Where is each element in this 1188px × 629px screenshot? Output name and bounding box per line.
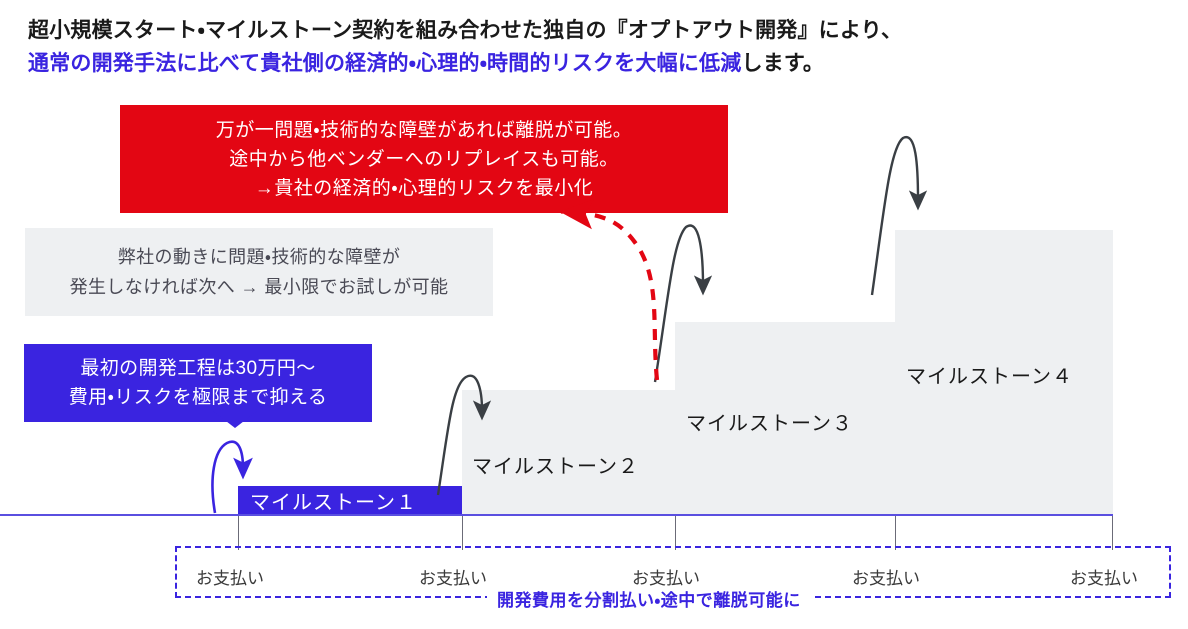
step-label-milestone-3: マイルストーン３ [686, 407, 853, 436]
payment-label-4-text: お支払い [852, 569, 920, 588]
callout-red-tail [538, 198, 586, 214]
timeline-tick-5 [1112, 516, 1113, 550]
step-label-milestone-1-text: マイルストーン１ [250, 486, 417, 515]
step-label-milestone-4: マイルストーン４ [906, 360, 1073, 389]
callout-red-line-3: →貴社の経済的・心理的リスクを最小化 [120, 174, 728, 203]
step-label-milestone-4-text: マイルストーン４ [906, 366, 1073, 388]
callout-gray-line-1: 弊社の動きに問題・技術的な障壁が [25, 242, 493, 272]
payment-caption: 開発費用を分割払い・途中で離脱可能に [487, 586, 811, 611]
step-label-milestone-1: マイルストーン１ [238, 486, 462, 515]
step-label-milestone-2: マイルストーン２ [472, 450, 639, 479]
payment-label-5: お支払い [1070, 564, 1138, 589]
callout-gray-line-2: 発生しなければ次へ → 最小限でお試しが可能 [25, 272, 493, 302]
timeline-tick-1 [238, 516, 239, 550]
page-title: 超小規模スタート・マイルストーン契約を組み合わせた独自の『オプトアウト開発』によ… [28, 14, 1148, 80]
payment-label-2-text: お支払い [419, 569, 487, 588]
timeline-tick-3 [675, 516, 676, 550]
callout-red-line-1: 万が一問題・技術的な障壁があれば離脱が可能。 [120, 116, 728, 145]
slide-canvas: 超小規模スタート・マイルストーン契約を組み合わせた独自の『オプトアウト開発』によ… [0, 0, 1188, 629]
step-label-milestone-2-text: マイルストーン２ [472, 456, 639, 478]
payment-label-2: お支払い [419, 564, 487, 589]
callout-blue-line-1: 最初の開発工程は30万円〜 [24, 354, 372, 383]
timeline-tick-4 [895, 516, 896, 550]
callout-red-line-2: 途中から他ベンダーへのリプレイスも可能。 [120, 145, 728, 174]
timeline-tick-2 [462, 516, 463, 550]
heading-line-1: 超小規模スタート・マイルストーン契約を組み合わせた独自の『オプトアウト開発』によ… [28, 14, 1148, 47]
step-label-milestone-3-text: マイルストーン３ [686, 413, 853, 435]
heading-line-2: 通常の開発手法に比べて貴社側の経済的・心理的・時間的リスクを大幅に低減します。 [28, 47, 1148, 80]
payment-label-1: お支払い [196, 564, 264, 589]
callout-red: 万が一問題・技術的な障壁があれば離脱が可能。 途中から他ベンダーへのリプレイスも… [120, 105, 728, 213]
arrow-opt-out [578, 213, 657, 380]
heading-line-2-highlight: 通常の開発手法に比べて貴社側の経済的・心理的・時間的リスクを大幅に低減 [28, 52, 741, 75]
payment-label-4: お支払い [852, 564, 920, 589]
timeline-baseline [0, 514, 1113, 516]
callout-gray: 弊社の動きに問題・技術的な障壁が 発生しなければ次へ → 最小限でお試しが可能 [25, 228, 493, 316]
heading-line-2-tail: します。 [741, 52, 824, 75]
payment-caption-text: 開発費用を分割払い・途中で離脱可能に [497, 591, 801, 610]
callout-blue: 最初の開発工程は30万円〜 費用・リスクを極限まで抑える [24, 344, 372, 422]
callout-blue-line-2: 費用・リスクを極限まで抑える [24, 383, 372, 412]
callout-blue-tail [213, 411, 257, 428]
payment-label-5-text: お支払い [1070, 569, 1138, 588]
payment-label-1-text: お支払い [196, 569, 264, 588]
